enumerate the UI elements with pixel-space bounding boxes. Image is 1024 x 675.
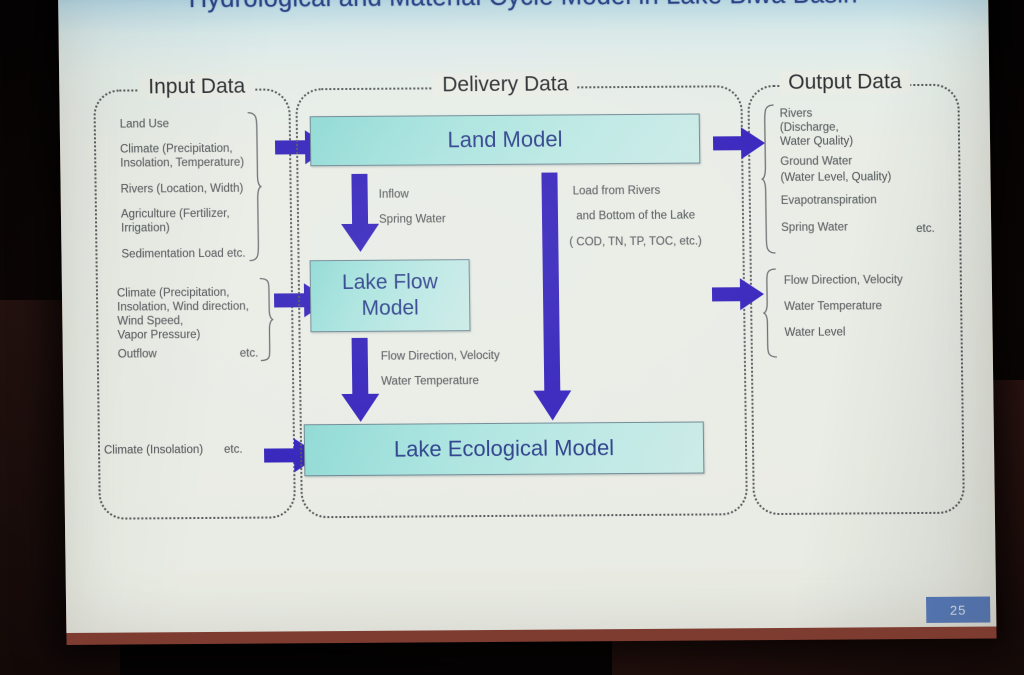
arrow-down-icon [340, 174, 379, 252]
input-line-wind-speed: Wind Speed, [117, 314, 183, 329]
group-label-output-data: Output Data [779, 70, 911, 95]
input-line-climate-insolation: Climate (Insolation) [104, 443, 203, 458]
projection-screen-frame: Hydrological and Material Cycle Model in… [58, 0, 997, 645]
output-line-water-temperature: Water Temperature [784, 299, 882, 314]
input-line-climate-2b: Insolation, Wind direction, [117, 300, 249, 316]
model-box-lake-flow-label: Lake Flow Model [342, 269, 438, 322]
input-line-agriculture-a: Agriculture (Fertilizer, [121, 207, 230, 222]
arrow-right-icon [712, 278, 764, 310]
curly-brace-left-icon [760, 103, 778, 255]
input-line-outflow-etc: etc. [240, 347, 259, 362]
group-label-input-data: Input Data [139, 75, 254, 100]
input-line-outflow: Outflow [118, 347, 157, 362]
input-line-vapor: Vapor Pressure) [117, 328, 200, 343]
output-line-discharge: (Discharge, [780, 121, 839, 136]
model-label-line1: Lake Flow [342, 270, 438, 294]
flow-label-flow-direction: Flow Direction, Velocity [381, 349, 500, 364]
slide-content: Hydrological and Material Cycle Model in… [58, 0, 996, 633]
input-line-climate-1a: Climate (Precipitation, [120, 142, 233, 157]
flow-label-load-rivers-2: and Bottom of the Lake [573, 209, 695, 224]
model-box-lake-flow[interactable]: Lake Flow Model [310, 259, 471, 332]
input-line-climate-insolation-etc: etc. [224, 443, 243, 458]
input-line-sedimentation: Sedimentation Load etc. [121, 247, 245, 262]
page-title: Hydrological and Material Cycle Model in… [58, 0, 988, 15]
arrow-down-icon [341, 338, 380, 422]
flow-label-load-rivers-3: ( COD, TN, TP, TOC, etc.) [569, 235, 702, 251]
output-line-flow-direction: Flow Direction, Velocity [784, 273, 903, 288]
projected-slide: Hydrological and Material Cycle Model in… [58, 0, 996, 633]
output-line-ground-water: Ground Water [780, 154, 852, 169]
input-line-agriculture-b: Irrigation) [121, 221, 170, 236]
arrow-right-icon [713, 127, 765, 159]
arrow-down-icon [530, 172, 571, 420]
group-label-delivery-data: Delivery Data [433, 72, 577, 97]
flow-label-load-rivers-1: Load from Rivers [573, 184, 661, 199]
flow-label-inflow: Inflow [379, 188, 409, 203]
input-line-land-use: Land Use [120, 117, 169, 132]
curly-brace-left-icon [762, 267, 779, 359]
input-line-climate-1b: Insolation, Temperature) [120, 156, 244, 171]
input-line-rivers: Rivers (Location, Width) [121, 182, 244, 197]
model-box-lake-ecological[interactable]: Lake Ecological Model [304, 421, 705, 476]
flow-label-water-temperature: Water Temperature [381, 374, 479, 389]
output-line-water-level-2: Water Level [784, 326, 845, 341]
model-label-line2: Model [361, 296, 419, 319]
output-line-evapo: Evapotranspiration [781, 193, 877, 208]
flow-label-spring-water: Spring Water [379, 212, 446, 227]
page-number-badge: 25 [926, 596, 990, 622]
curly-brace-right-icon [246, 111, 264, 263]
output-line-water-level: (Water Level, Quality) [780, 170, 891, 185]
curly-brace-right-icon [258, 276, 275, 362]
output-line-spring-water-etc: etc. [916, 222, 935, 237]
input-line-climate-2a: Climate (Precipitation, [117, 286, 230, 301]
output-line-spring-water: Spring Water [781, 220, 848, 235]
output-line-water-quality: Water Quality) [780, 134, 853, 149]
output-line-rivers: Rivers [780, 107, 813, 122]
model-box-land[interactable]: Land Model [310, 114, 701, 167]
